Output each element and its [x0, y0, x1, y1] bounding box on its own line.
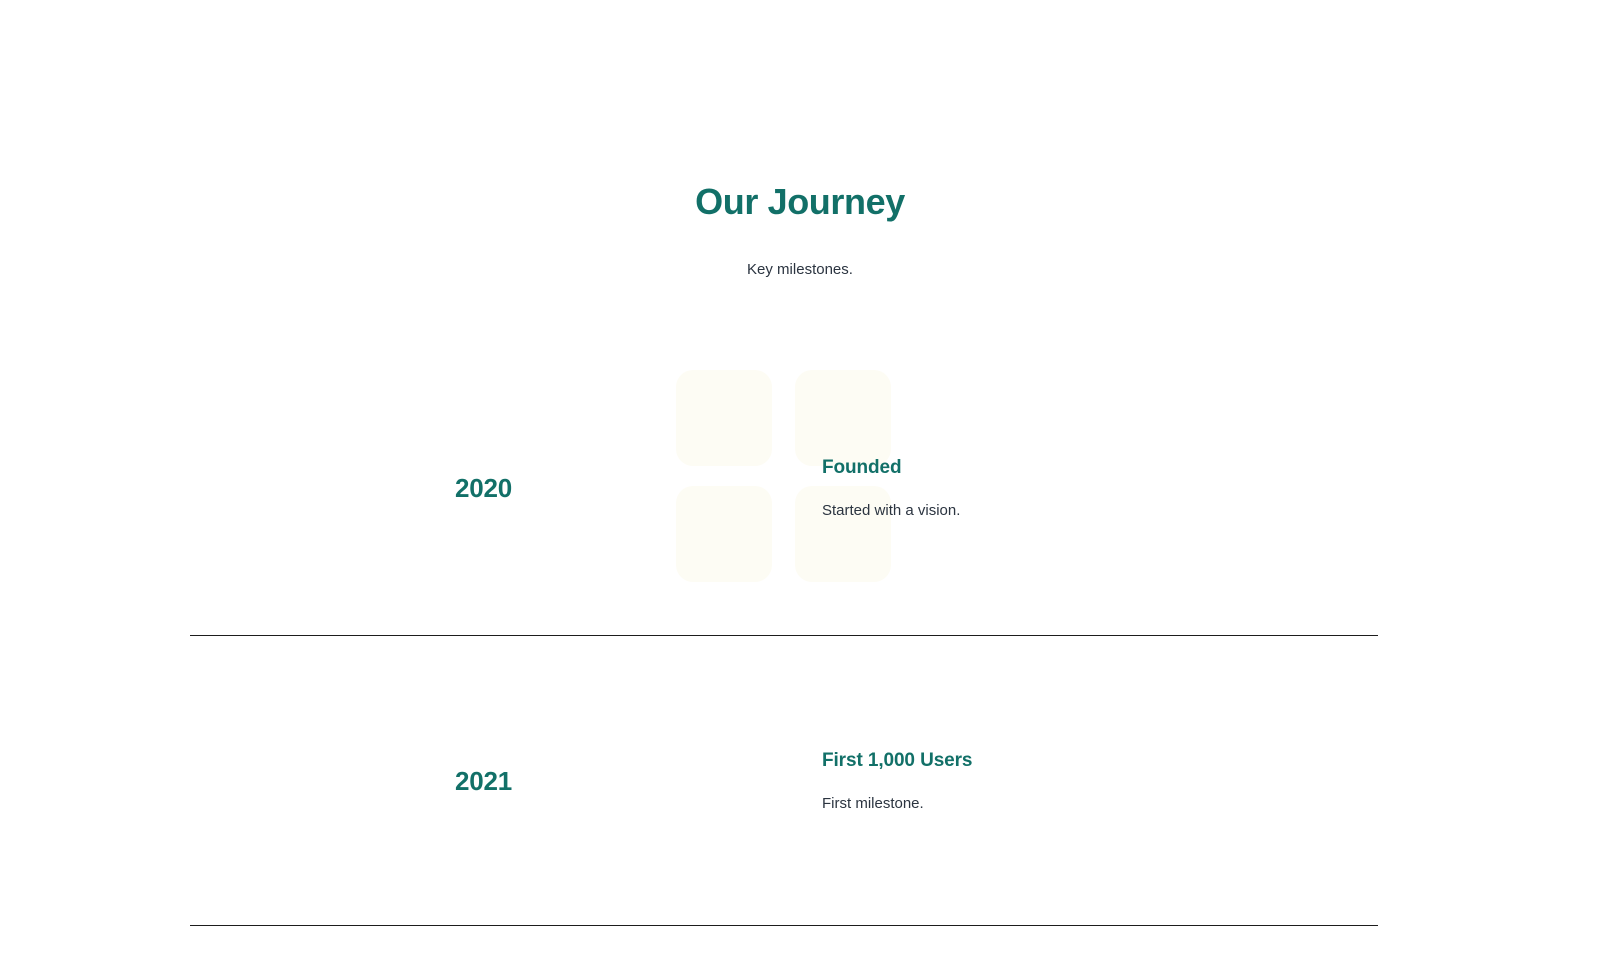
timeline-row[interactable]: 2021 First 1,000 Users First milestone.: [190, 636, 1378, 926]
journey-header: Our Journey Key milestones.: [0, 180, 1600, 280]
timeline-heading: Founded: [822, 455, 1378, 481]
timeline-content-column: Founded Started with a vision.: [522, 455, 1378, 521]
timeline-list: 2020 Founded Started with a vision. 2021…: [190, 340, 1378, 926]
timeline-content-column: First 1,000 Users First milestone.: [522, 748, 1378, 814]
page-title: Our Journey: [0, 180, 1600, 224]
timeline-year-column: 2021: [190, 765, 522, 797]
timeline-year-column: 2020: [190, 472, 522, 504]
our-journey-page: Our Journey Key milestones. 2020 Founded…: [0, 0, 1600, 978]
decorative-block-2: [795, 370, 891, 466]
timeline-heading: First 1,000 Users: [822, 748, 1378, 774]
timeline-year: 2021: [455, 766, 512, 796]
timeline-description: First milestone.: [822, 774, 1378, 814]
decorative-block-1: [676, 370, 772, 466]
timeline-description: Started with a vision.: [822, 481, 1378, 521]
page-subtitle: Key milestones.: [0, 224, 1600, 280]
timeline-year: 2020: [455, 473, 512, 503]
timeline-row[interactable]: 2020 Founded Started with a vision.: [190, 340, 1378, 636]
